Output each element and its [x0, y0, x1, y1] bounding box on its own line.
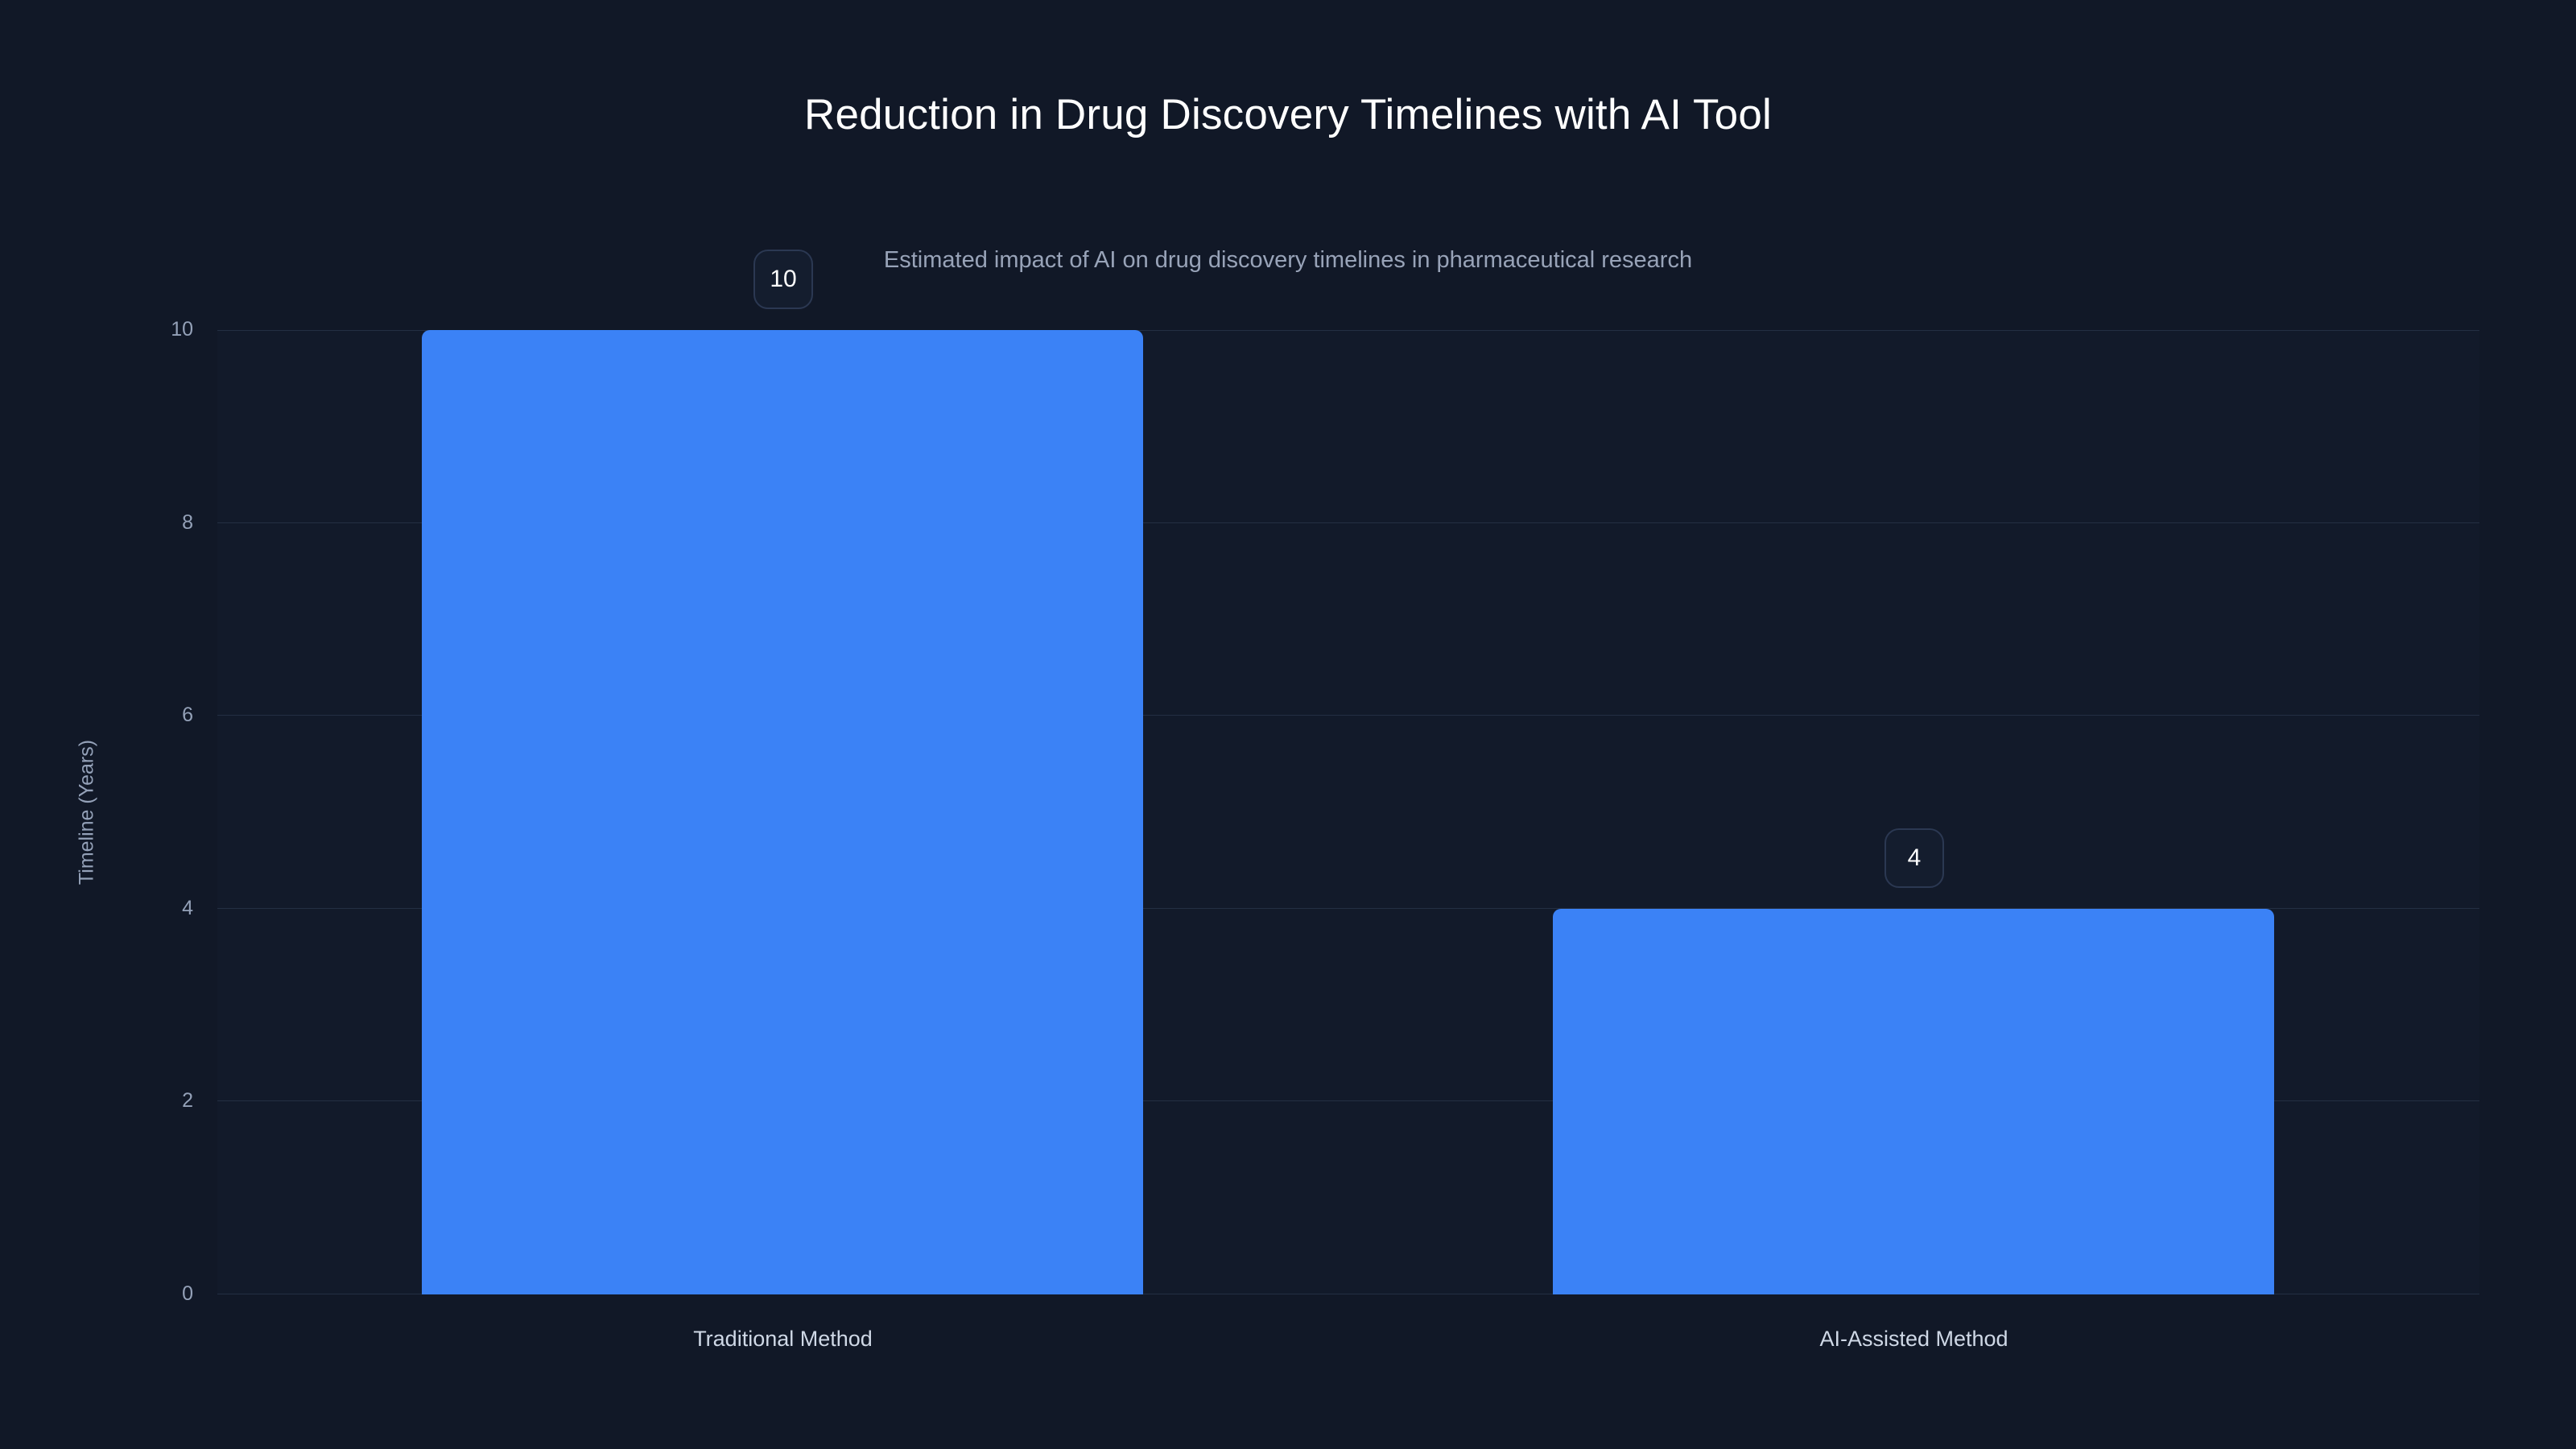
y-axis-title: Timeline (Years): [76, 740, 99, 885]
y-axis-tick-label: 6: [97, 705, 193, 725]
bar-0[interactable]: [422, 330, 1143, 1294]
chart-subtitle: Estimated impact of AI on drug discovery…: [0, 246, 2576, 275]
x-axis-tick-label: Traditional Method: [217, 1328, 1348, 1350]
y-axis-tick-label: 0: [97, 1284, 193, 1304]
y-axis-tick-label: 8: [97, 513, 193, 533]
x-axis-tick-label: AI-Assisted Method: [1348, 1328, 2479, 1350]
bar-value-badge-0: 10: [753, 250, 813, 309]
y-axis-tick-label: 4: [97, 898, 193, 919]
y-axis-tick-label: 10: [97, 320, 193, 340]
bar-chart-canvas: Reduction in Drug Discovery Timelines wi…: [0, 0, 2576, 1449]
y-axis-tick-label: 2: [97, 1091, 193, 1111]
chart-title: Reduction in Drug Discovery Timelines wi…: [0, 90, 2576, 141]
bar-value-badge-1: 4: [1885, 828, 1944, 888]
bar-1[interactable]: [1553, 909, 2274, 1294]
plot-area: [217, 330, 2479, 1294]
